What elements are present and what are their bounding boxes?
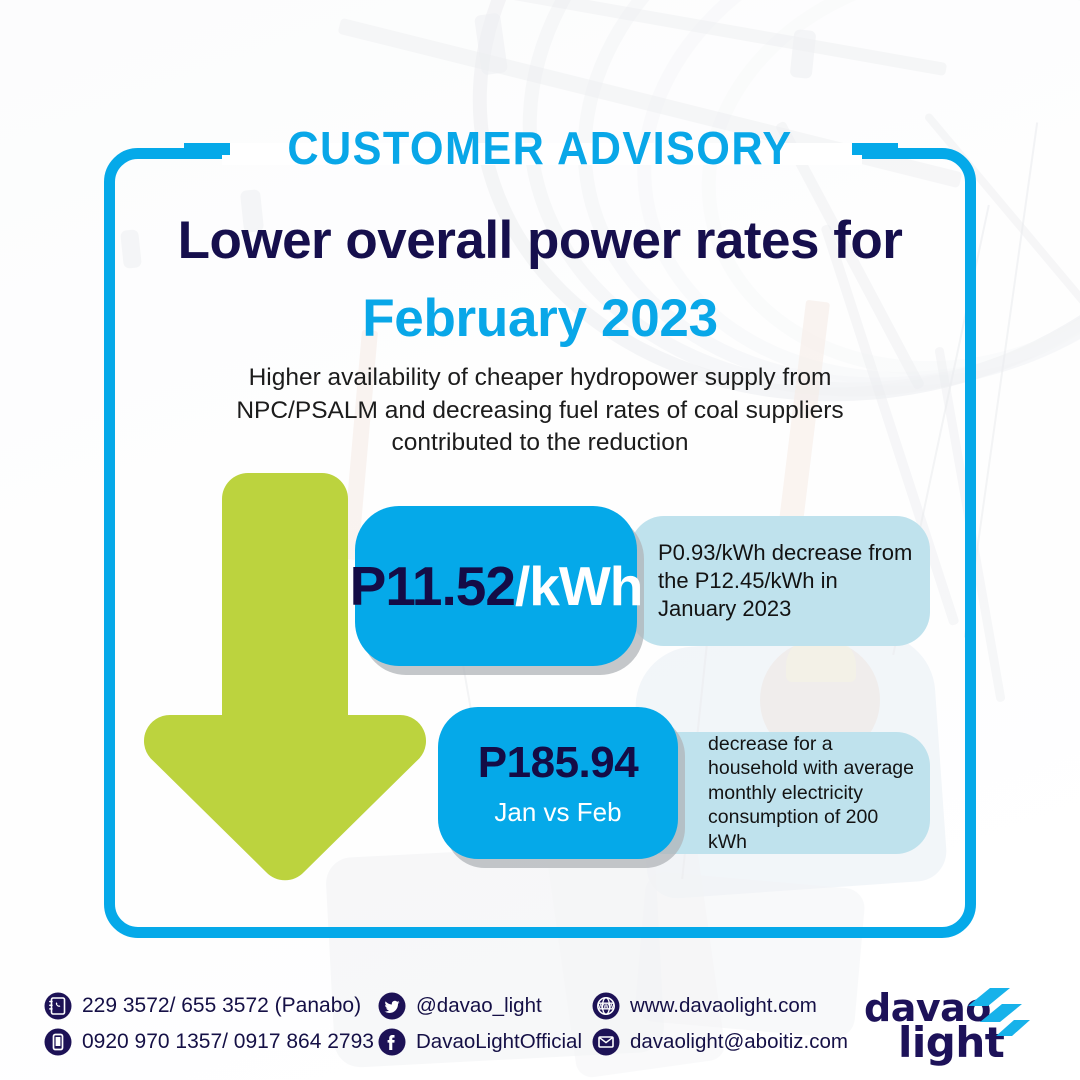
email-envelope-icon bbox=[592, 1028, 620, 1056]
footer-column-social: @davao_light DavaoLightOfficial bbox=[378, 988, 582, 1060]
footer-item-email[interactable]: davaolight@aboitiz.com bbox=[592, 1024, 848, 1060]
footer-item-facebook[interactable]: DavaoLightOfficial bbox=[378, 1024, 582, 1060]
rate-amount-2: P185.94 bbox=[478, 741, 638, 785]
advisory-subtext: Higher availability of cheaper hydropowe… bbox=[195, 362, 885, 460]
rate-note-panel-1: P0.93/kWh decrease from the P12.45/kWh i… bbox=[630, 516, 930, 646]
rate-amount-1: P11.52 bbox=[350, 555, 515, 617]
footer-item-mobile[interactable]: 0920 970 1357/ 0917 864 2793 bbox=[44, 1024, 374, 1060]
facebook-icon bbox=[378, 1028, 406, 1056]
rate-card-1: P11.52/kWh bbox=[355, 506, 637, 666]
footer-facebook-text: DavaoLightOfficial bbox=[416, 1030, 582, 1054]
davao-light-logo: davao light bbox=[862, 986, 1042, 1066]
headline-line-1: Lower overall power rates for bbox=[0, 213, 1080, 268]
footer-item-website[interactable]: WWW www.davaolight.com bbox=[592, 988, 848, 1024]
advisory-poster: CUSTOMER ADVISORY Lower overall power ra… bbox=[0, 0, 1080, 1080]
rate-note-text-1: P0.93/kWh decrease from the P12.45/kWh i… bbox=[630, 539, 930, 623]
svg-text:WWW: WWW bbox=[598, 1004, 615, 1010]
rate-card-2: P185.94 Jan vs Feb bbox=[438, 707, 678, 859]
logo-slashes-icon bbox=[968, 988, 1030, 1044]
rate-value-1: P11.52/kWh bbox=[350, 559, 643, 614]
rate-unit-1: /kWh bbox=[515, 555, 642, 617]
footer-landline-text: 229 3572/ 655 3572 (Panabo) bbox=[82, 994, 361, 1018]
footer-twitter-text: @davao_light bbox=[416, 994, 542, 1018]
footer-email-text: davaolight@aboitiz.com bbox=[630, 1030, 848, 1054]
footer-column-phones: 229 3572/ 655 3572 (Panabo) 0920 970 135… bbox=[44, 988, 374, 1060]
headline-line-2: February 2023 bbox=[0, 288, 1080, 349]
footer-mobile-text: 0920 970 1357/ 0917 864 2793 bbox=[82, 1030, 374, 1054]
footer-item-twitter[interactable]: @davao_light bbox=[378, 988, 582, 1024]
footer-item-landline[interactable]: 229 3572/ 655 3572 (Panabo) bbox=[44, 988, 374, 1024]
landline-phone-icon bbox=[44, 992, 72, 1020]
www-globe-icon: WWW bbox=[592, 992, 620, 1020]
mobile-phone-icon bbox=[44, 1028, 72, 1056]
twitter-icon bbox=[378, 992, 406, 1020]
footer-column-web: WWW www.davaolight.com davaolight@aboiti… bbox=[592, 988, 848, 1060]
advisory-eyebrow: CUSTOMER ADVISORY bbox=[32, 121, 1047, 175]
rate-sublabel-2: Jan vs Feb bbox=[494, 799, 621, 825]
footer-website-text: www.davaolight.com bbox=[630, 994, 817, 1018]
